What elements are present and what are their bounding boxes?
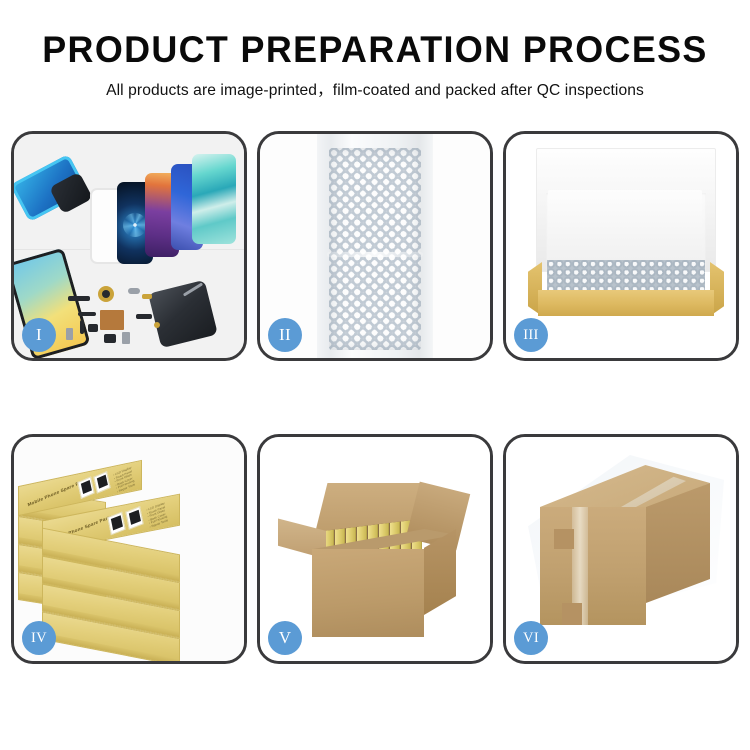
part-screw bbox=[154, 322, 160, 328]
process-step-card-3: III bbox=[503, 131, 739, 361]
carton-tab-lower bbox=[562, 603, 582, 625]
process-step-card-6: VI bbox=[503, 434, 739, 664]
teal-wave-phone bbox=[192, 154, 236, 244]
part-copper-grid bbox=[100, 310, 124, 330]
product-preparation-process-page: PRODUCT PREPARATION PROCESS All products… bbox=[0, 0, 750, 750]
sealed-carton-front bbox=[540, 507, 646, 625]
part-tweezers bbox=[183, 282, 203, 296]
process-step-card-5: V bbox=[257, 434, 493, 664]
step-badge-6: VI bbox=[514, 621, 548, 655]
foam-sheet bbox=[548, 190, 702, 260]
part-speaker bbox=[104, 334, 116, 343]
screen-spark-icon bbox=[123, 213, 147, 237]
bubble-wrap-bag bbox=[317, 134, 433, 358]
step-badge-4: IV bbox=[22, 621, 56, 655]
process-step-card-4: Mobile Phone Spare Parts ▫ LCD Display▫ … bbox=[11, 434, 247, 664]
spare-parts-cluster bbox=[64, 282, 214, 352]
process-steps-grid: I II III bbox=[0, 131, 750, 664]
part-battery-tab bbox=[122, 332, 130, 344]
step-badge-1: I bbox=[22, 318, 56, 352]
part-small-bracket bbox=[128, 288, 140, 294]
step-badge-5: V bbox=[268, 621, 302, 655]
process-step-card-1: I bbox=[11, 131, 247, 361]
carton-tab-upper bbox=[554, 529, 574, 549]
part-sim-tray bbox=[66, 328, 73, 340]
box-checklist-2: ▫ LCD Display▫ Touch Panel▫ Front Glass▫… bbox=[146, 502, 168, 529]
page-subtitle: All products are image-printed，film-coat… bbox=[0, 78, 750, 100]
step-badge-3: III bbox=[514, 318, 548, 352]
box-screen-thumb-1a bbox=[77, 476, 94, 499]
process-step-card-2: II bbox=[257, 131, 493, 361]
page-header: PRODUCT PREPARATION PROCESS All products… bbox=[0, 0, 750, 100]
bubble-texture bbox=[329, 148, 421, 350]
page-title: PRODUCT PREPARATION PROCESS bbox=[11, 30, 739, 69]
box-front-panel bbox=[538, 290, 714, 316]
box-screen-thumb-2b bbox=[125, 506, 143, 530]
bubble-wrapped-item bbox=[547, 260, 705, 290]
part-antenna bbox=[136, 314, 152, 319]
part-flex-cable bbox=[78, 312, 96, 316]
bag-seal-line bbox=[327, 252, 423, 257]
box-screen-thumb-1b bbox=[93, 471, 110, 494]
part-coil-center bbox=[102, 290, 110, 298]
part-shield-can bbox=[88, 324, 98, 332]
part-connector-strip bbox=[68, 296, 90, 301]
part-pin bbox=[80, 320, 84, 334]
step-badge-2: II bbox=[268, 318, 302, 352]
box-checklist-1: ▫ LCD Display▫ Touch Panel▫ Front Glass▫… bbox=[113, 466, 136, 494]
box-screen-thumb-2a bbox=[107, 512, 125, 536]
part-gold-clip bbox=[142, 294, 152, 299]
carton-front-face bbox=[312, 549, 424, 637]
